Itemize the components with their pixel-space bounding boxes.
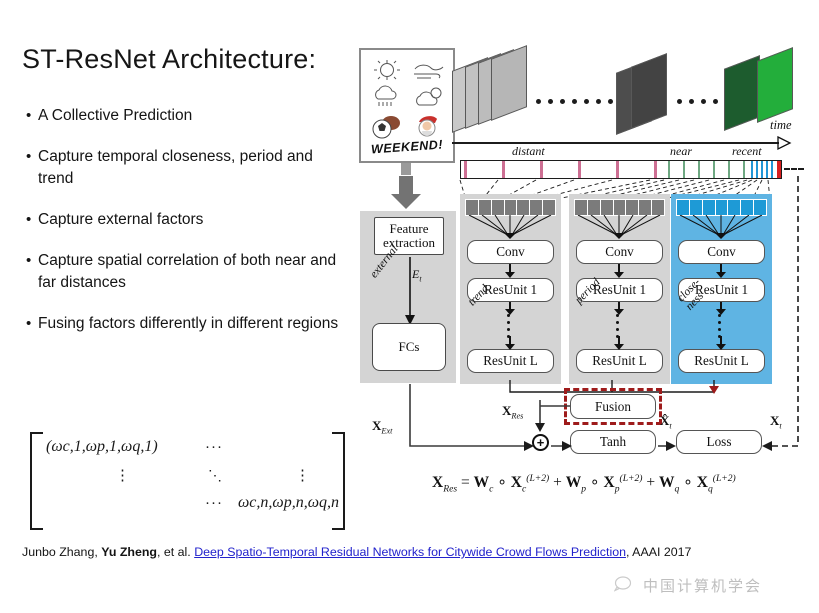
bullet-marker: • — [22, 105, 38, 126]
timeline-label-distant: distant — [512, 144, 545, 159]
conv-box-trend: Conv — [467, 240, 554, 264]
conv-fan-period — [569, 215, 670, 239]
conv-box-period: Conv — [576, 240, 663, 264]
list-item: • Capture spatial correlation of both ne… — [22, 250, 342, 294]
matrix-cell-r2c1: ⋮ — [115, 466, 130, 485]
ellipsis-dots-2 — [677, 98, 730, 104]
branch-trend: Conv ResUnit 1 ResUnit L trend — [460, 194, 561, 384]
x-res-label: XRes — [502, 403, 523, 421]
x-t-label: Xt — [770, 413, 782, 431]
et-label: Et — [412, 267, 422, 283]
paper-link[interactable]: Deep Spatio-Temporal Residual Networks f… — [194, 545, 626, 559]
external-processing-panel: Feature extraction external Et FCs — [360, 211, 456, 383]
time-axis-line — [452, 142, 779, 144]
bullet-text: Capture temporal closeness, period and t… — [38, 146, 342, 190]
residual-fusion-formula: XRes = Wc ∘ Xc(L+2) + Wp ∘ Xp(L+2) + Wq … — [432, 473, 736, 494]
rain-icon — [369, 85, 405, 111]
bullet-text: Capture spatial correlation of both near… — [38, 250, 342, 294]
matrix-cell-r2c3: ⋮ — [295, 466, 310, 485]
list-item: • A Collective Prediction — [22, 105, 342, 127]
bullet-text: Fusing factors differently in different … — [38, 313, 338, 335]
matrix-bracket-left — [30, 432, 43, 530]
down-arrow-icon — [388, 176, 424, 210]
fusion-wiring — [352, 376, 807, 476]
ellipsis-dots-1 — [536, 98, 613, 104]
citation-authors-tail: , et al. — [157, 545, 194, 559]
x-hat-t-label: X̂t — [660, 413, 672, 431]
weather-icon-grid — [361, 54, 453, 126]
watermark-text: 中国计算机学会 — [643, 575, 762, 596]
page-title: ST-ResNet Architecture: — [22, 44, 316, 75]
resunitL-box-closeness: ResUnit L — [678, 349, 765, 373]
citation: Junbo Zhang, Yu Zheng, et al. Deep Spati… — [22, 545, 691, 559]
panel-stand — [401, 163, 411, 175]
wind-icon — [411, 59, 447, 85]
bullet-marker: • — [22, 250, 38, 271]
citation-author-highlight: Yu Zheng — [101, 545, 157, 559]
input-cells-trend — [465, 199, 556, 216]
matrix-cell-r3c3: ωc,n,ωp,n,ωq,n — [238, 494, 339, 512]
matrix-cell-r2c2: ⋱ — [208, 468, 222, 485]
bullet-text: Capture external factors — [38, 209, 203, 231]
conv-box-closeness: Conv — [678, 240, 765, 264]
bullet-marker: • — [22, 209, 38, 230]
sun-icon — [369, 57, 405, 83]
time-axis-label: time — [770, 118, 792, 133]
architecture-diagram: WEEKEND! Feature extraction external Et … — [352, 36, 807, 521]
slide-canvas: ST-ResNet Architecture: • A Collective P… — [0, 0, 819, 613]
weight-matrix: (ωc,1,ωp,1,ωq,1) ··· ⋮ ⋱ ⋮ ··· ωc,n,ωp,n… — [30, 432, 345, 530]
watermark: 中国计算机学会 — [614, 575, 762, 596]
matrix-cell-r1c1: (ωc,1,ωp,1,ωq,1) — [46, 438, 158, 456]
timeline-label-near: near — [670, 144, 692, 159]
conv-fan-closeness — [671, 215, 772, 239]
time-arrow-icon — [776, 135, 794, 151]
spatiotemporal-map-stacks — [452, 36, 807, 144]
matrix-bracket-right — [332, 432, 345, 530]
list-item: • Fusing factors differently in differen… — [22, 313, 342, 335]
fcs-box: FCs — [372, 323, 446, 371]
timeline-label-recent: recent — [732, 144, 762, 159]
cloud-icon — [411, 85, 447, 111]
santa-icon — [413, 112, 443, 140]
branch-closeness: Conv ResUnit 1 ResUnit L close- ness — [671, 194, 772, 384]
citation-venue: , AAAI 2017 — [626, 545, 691, 559]
bullet-marker: • — [22, 146, 38, 167]
conv-fan-trend — [460, 215, 561, 239]
bullet-marker: • — [22, 313, 38, 334]
resunit-ellipsis-period — [616, 314, 619, 336]
wechat-icon — [614, 576, 636, 596]
citation-authors: Junbo Zhang, — [22, 545, 101, 559]
resunit-ellipsis-closeness — [718, 314, 721, 336]
bullet-text: A Collective Prediction — [38, 105, 192, 127]
list-item: • Capture temporal closeness, period and… — [22, 146, 342, 190]
resunitL-box-period: ResUnit L — [576, 349, 663, 373]
matrix-cell-r3c2: ··· — [205, 496, 223, 513]
resunit-ellipsis-trend — [507, 314, 510, 336]
soccer-ball-icon — [371, 112, 401, 140]
bullet-list: • A Collective Prediction • Capture temp… — [22, 105, 342, 354]
matrix-cell-r1c2: ··· — [205, 440, 223, 457]
et-subscript: t — [419, 274, 421, 283]
input-cells-closeness — [676, 199, 767, 216]
resunitL-box-trend: ResUnit L — [467, 349, 554, 373]
input-cells-period — [574, 199, 665, 216]
timeline-continuation-dashes — [784, 168, 804, 170]
feature-extraction-box: Feature extraction — [374, 217, 444, 255]
groundtruth-dashed-line — [780, 176, 804, 381]
external-factors-panel: WEEKEND! — [359, 48, 455, 163]
x-ext-label: XExt — [372, 418, 392, 436]
list-item: • Capture external factors — [22, 209, 342, 231]
branch-period: Conv ResUnit 1 ResUnit L period — [569, 194, 670, 384]
